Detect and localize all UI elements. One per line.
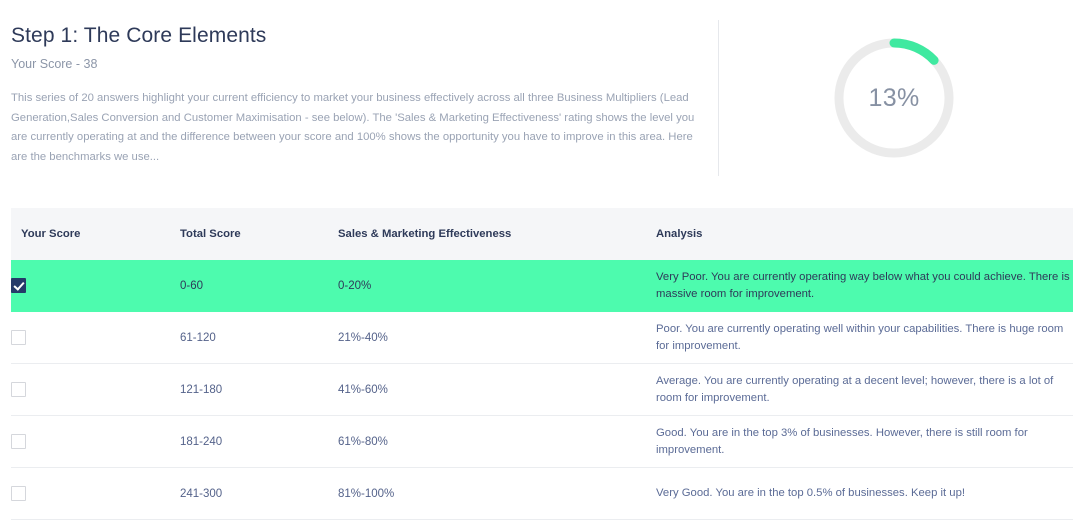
benchmarks-table: Your Score Total Score Sales & Marketing… [11, 208, 1073, 520]
score-donut-chart: 13% [832, 33, 956, 163]
your-score-cell [11, 416, 180, 468]
table-row[interactable]: 121-18041%-60%Average. You are currently… [11, 364, 1073, 416]
analysis-text: Poor. You are currently operating well w… [656, 321, 1073, 355]
analysis-text: Good. You are in the top 3% of businesse… [656, 425, 1073, 459]
analysis-cell: Average. You are currently operating at … [656, 364, 1073, 416]
checkbox-unchecked[interactable] [11, 434, 26, 449]
checkbox-checked[interactable] [11, 278, 26, 293]
page-title: Step 1: The Core Elements [11, 22, 703, 50]
your-score-cell [11, 260, 180, 312]
analysis-text: Very Good. You are in the top 0.5% of bu… [656, 485, 1073, 502]
intro-paragraph: This series of 20 answers highlight your… [11, 89, 701, 167]
total-score-cell: 121-180 [180, 364, 338, 416]
checkbox-unchecked[interactable] [11, 486, 26, 501]
column-header-analysis: Analysis [656, 208, 1073, 260]
analysis-cell: Poor. You are currently operating well w… [656, 312, 1073, 364]
column-header-your-score: Your Score [11, 208, 180, 260]
total-score-cell: 241-300 [180, 468, 338, 520]
column-header-total-score: Total Score [180, 208, 338, 260]
table-header: Your Score Total Score Sales & Marketing… [11, 208, 1073, 260]
donut-svg [832, 33, 956, 163]
your-score-cell [11, 364, 180, 416]
effectiveness-cell: 0-20% [338, 260, 656, 312]
total-score-cell: 61-120 [180, 312, 338, 364]
effectiveness-cell: 41%-60% [338, 364, 656, 416]
checkbox-unchecked[interactable] [11, 330, 26, 345]
summary-section: Step 1: The Core Elements Your Score - 3… [0, 0, 1083, 190]
table-row[interactable]: 0-600-20%Very Poor. You are currently op… [11, 260, 1073, 312]
analysis-cell: Very Poor. You are currently operating w… [656, 260, 1073, 312]
column-header-effectiveness: Sales & Marketing Effectiveness [338, 208, 656, 260]
intro-block: Step 1: The Core Elements Your Score - 3… [11, 22, 703, 178]
table-header-row: Your Score Total Score Sales & Marketing… [11, 208, 1073, 260]
analysis-cell: Good. You are in the top 3% of businesse… [656, 416, 1073, 468]
checkbox-unchecked[interactable] [11, 382, 26, 397]
total-score-cell: 181-240 [180, 416, 338, 468]
table-row[interactable]: 181-24061%-80%Good. You are in the top 3… [11, 416, 1073, 468]
your-score-cell [11, 468, 180, 520]
table-row[interactable]: 61-12021%-40%Poor. You are currently ope… [11, 312, 1073, 364]
total-score-cell: 0-60 [180, 260, 338, 312]
results-page: Step 1: The Core Elements Your Score - 3… [0, 0, 1083, 493]
analysis-text: Very Poor. You are currently operating w… [656, 269, 1073, 303]
analysis-cell: Very Good. You are in the top 0.5% of bu… [656, 468, 1073, 520]
effectiveness-cell: 81%-100% [338, 468, 656, 520]
your-score-cell [11, 312, 180, 364]
your-score-label: Your Score - 38 [11, 56, 703, 72]
vertical-divider [718, 20, 719, 176]
effectiveness-cell: 61%-80% [338, 416, 656, 468]
effectiveness-cell: 21%-40% [338, 312, 656, 364]
analysis-text: Average. You are currently operating at … [656, 373, 1073, 407]
table-row[interactable]: 241-30081%-100%Very Good. You are in the… [11, 468, 1073, 520]
table-body: 0-600-20%Very Poor. You are currently op… [11, 260, 1073, 520]
